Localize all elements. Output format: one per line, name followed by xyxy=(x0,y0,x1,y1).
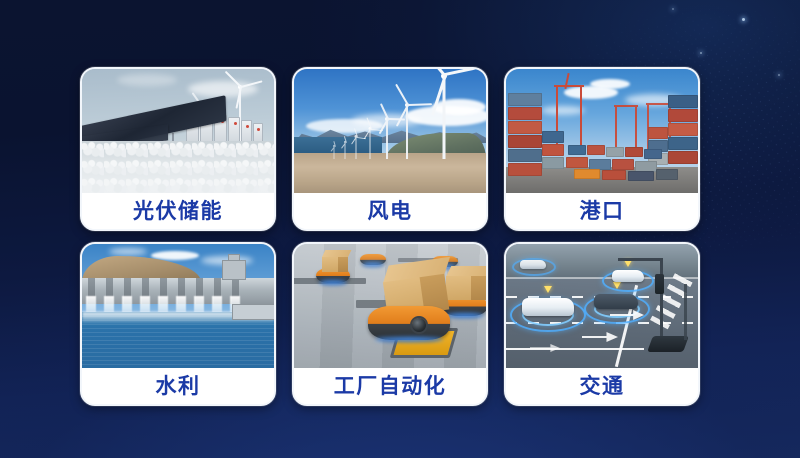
card-label: 风电 xyxy=(368,201,413,222)
lane-line xyxy=(506,348,644,350)
gantry-crane-icon xyxy=(614,105,638,149)
card-label-bar: 光伏储能 xyxy=(82,193,274,229)
wind-turbine-icon xyxy=(362,127,378,159)
wind-turbine-icon xyxy=(350,135,362,159)
shipping-container xyxy=(612,159,634,170)
signal-mast-arm xyxy=(618,258,662,261)
roadside-cabinet xyxy=(647,336,689,352)
shipping-container xyxy=(568,145,586,155)
card-label-bar: 工厂自动化 xyxy=(294,368,486,404)
shipping-container xyxy=(542,131,564,143)
shipping-container xyxy=(602,170,626,180)
control-tower xyxy=(228,254,240,261)
shipping-container xyxy=(508,149,542,162)
agv-sensor-icon xyxy=(412,318,426,332)
signal-pole xyxy=(684,284,687,340)
shipping-container xyxy=(668,151,698,164)
glow-dot-icon xyxy=(700,52,702,54)
thumbnail-factory-automation xyxy=(294,244,486,368)
shipping-container xyxy=(566,157,588,168)
glow-dot-icon xyxy=(778,74,780,76)
shipping-container xyxy=(587,145,605,155)
control-tower xyxy=(222,260,246,280)
signal-pole xyxy=(660,258,663,344)
vehicle-pin-icon xyxy=(544,286,552,293)
shipping-container xyxy=(508,135,542,148)
shipping-container xyxy=(508,93,542,106)
card-label: 水利 xyxy=(156,376,201,397)
agv-robot xyxy=(368,306,450,340)
card-label-bar: 风电 xyxy=(294,193,486,229)
thumbnail-transportation xyxy=(506,244,698,368)
scenario-card-wind-power[interactable]: 风电 xyxy=(292,67,488,231)
scenario-card-factory-automation[interactable]: 工厂自动化 xyxy=(292,242,488,406)
outlet-works xyxy=(232,304,274,320)
wind-turbine-icon xyxy=(418,73,470,159)
scenario-card-pv-storage[interactable]: 光伏储能 xyxy=(80,67,276,231)
shipping-container xyxy=(508,121,542,134)
thumbnail-water-conservancy xyxy=(82,244,274,368)
shipping-container xyxy=(628,171,654,181)
vehicle xyxy=(594,294,638,309)
card-label: 港口 xyxy=(580,201,625,222)
scenario-card-water-conservancy[interactable]: 水利 xyxy=(80,242,276,406)
scenario-card-grid: 光伏储能 xyxy=(80,67,703,400)
agv-robot xyxy=(360,254,386,265)
beach xyxy=(294,153,486,193)
traffic-light-icon xyxy=(655,274,664,294)
wind-turbine-icon xyxy=(376,117,398,159)
shipping-container xyxy=(606,147,624,157)
shipping-container xyxy=(668,137,698,150)
shipping-container xyxy=(625,147,643,157)
shipping-container xyxy=(542,144,564,156)
glow-dot-icon xyxy=(742,18,745,21)
slide-canvas: 光伏储能 xyxy=(0,0,800,458)
card-label: 光伏储能 xyxy=(133,201,223,222)
vehicle xyxy=(522,298,574,316)
card-label-bar: 水利 xyxy=(82,368,274,404)
wind-turbine-icon xyxy=(330,145,338,159)
vehicle xyxy=(612,270,644,282)
scenario-card-port[interactable]: 港口 xyxy=(504,67,700,231)
carton-box xyxy=(446,266,486,300)
shipping-container xyxy=(508,107,542,120)
gravel-ground xyxy=(82,141,274,193)
shipping-container xyxy=(656,169,678,180)
scenario-card-transportation[interactable]: 交通 xyxy=(504,242,700,406)
glow-dot-icon xyxy=(672,8,674,10)
thumbnail-port xyxy=(506,69,698,193)
shipping-container xyxy=(508,163,542,176)
card-label: 工厂自动化 xyxy=(334,376,447,397)
shipping-container xyxy=(668,123,698,136)
thumbnail-pv-storage xyxy=(82,69,274,193)
vehicle-pin-icon xyxy=(624,260,632,267)
card-label: 交通 xyxy=(580,376,625,397)
thumbnail-wind-power xyxy=(294,69,486,193)
shipping-container xyxy=(668,109,698,122)
card-label-bar: 交通 xyxy=(506,368,698,404)
shipping-container xyxy=(574,169,600,179)
shipping-container xyxy=(648,127,668,139)
shipping-container xyxy=(542,157,564,169)
carton-box xyxy=(322,250,348,272)
shipping-container xyxy=(644,149,662,159)
vehicle xyxy=(520,260,546,269)
card-label-bar: 港口 xyxy=(506,193,698,229)
shipping-container xyxy=(668,95,698,108)
wind-turbine-icon xyxy=(340,141,350,159)
